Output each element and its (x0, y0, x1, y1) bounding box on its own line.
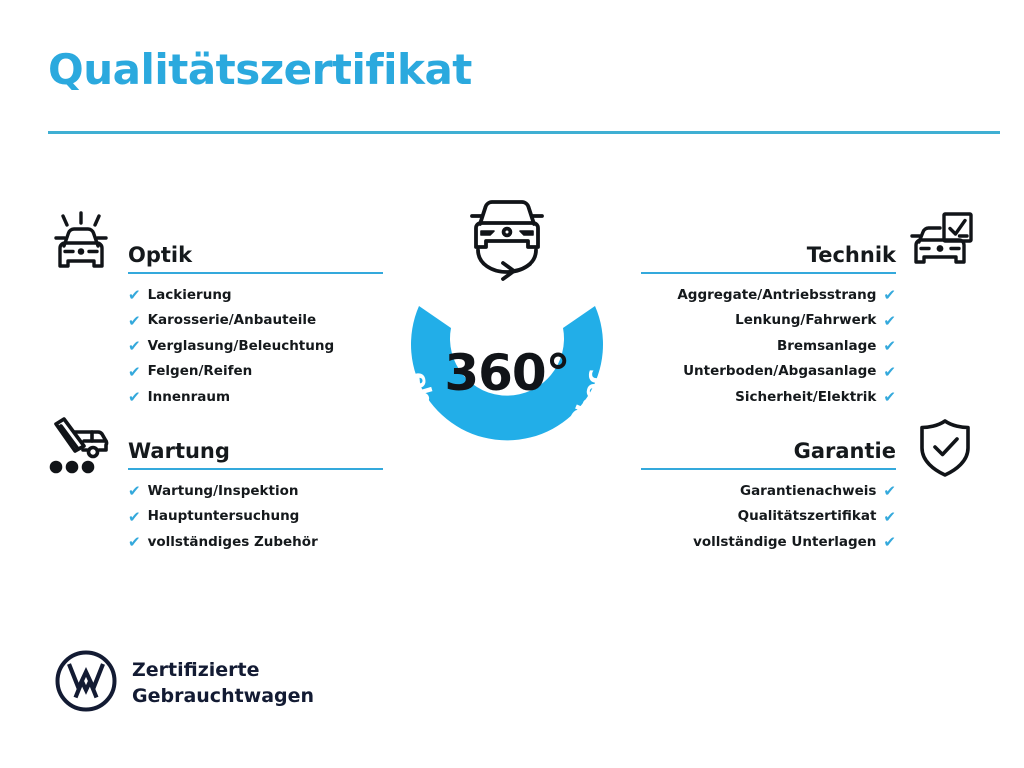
list-item: ✔Wartung/Inspektion (128, 484, 383, 499)
title-divider (48, 131, 1000, 134)
list-item: Qualitätszertifikat✔ (641, 510, 896, 525)
list-item: Aggregate/Antriebsstrang✔ (641, 288, 896, 303)
check-icon: ✔ (883, 510, 896, 525)
list-item-label: Lackierung (148, 289, 232, 303)
list-item-label: Hauptuntersuchung (148, 510, 300, 524)
check-icon: ✔ (883, 314, 896, 329)
list-item-label: Lenkung/Fahrwerk (735, 314, 876, 328)
badge-360-gebrauchtwagen-check: Gebrauchtwagen-Check 360° (378, 252, 636, 488)
car-rotate-icon (456, 190, 558, 290)
check-icon: ✔ (128, 510, 141, 525)
list-item-label: vollständiges Zubehör (148, 536, 318, 550)
list-item: Garantienachweis✔ (641, 484, 896, 499)
shield-check-icon (910, 414, 980, 484)
vw-logo (55, 650, 117, 712)
section-title: Technik (807, 245, 896, 266)
checklist-wartung: ✔Wartung/Inspektion ✔Hauptuntersuchung ✔… (128, 484, 383, 550)
list-item: ✔Karosserie/Anbauteile (128, 314, 383, 329)
section-header: Technik (641, 232, 896, 274)
check-icon: ✔ (128, 288, 141, 303)
list-item: Bremsanlage✔ (641, 339, 896, 354)
section-underline (128, 272, 383, 274)
section-header: Garantie (641, 428, 896, 470)
check-icon: ✔ (883, 288, 896, 303)
list-item: ✔Verglasung/Beleuchtung (128, 339, 383, 354)
list-item-label: Garantienachweis (740, 485, 876, 499)
section-garantie: Garantie Garantienachweis✔ Qualitätszert… (641, 428, 896, 561)
list-item: Sicherheit/Elektrik✔ (641, 390, 896, 405)
checklist-technik: Aggregate/Antriebsstrang✔ Lenkung/Fahrwe… (641, 288, 896, 405)
list-item-label: Felgen/Reifen (148, 365, 253, 379)
list-item: ✔Innenraum (128, 390, 383, 405)
section-optik: Optik ✔Lackierung ✔Karosserie/Anbauteile… (128, 232, 383, 416)
check-icon: ✔ (883, 339, 896, 354)
check-icon: ✔ (128, 339, 141, 354)
list-item-label: Sicherheit/Elektrik (735, 391, 876, 405)
list-item-label: Bremsanlage (777, 340, 876, 354)
footer-line-2: Gebrauchtwagen (132, 684, 314, 710)
list-item-label: Verglasung/Beleuchtung (148, 340, 335, 354)
check-icon: ✔ (883, 484, 896, 499)
car-checkbox-icon (906, 208, 976, 278)
footer-line-1: Zertifizierte (132, 658, 314, 684)
section-underline (641, 468, 896, 470)
list-item-label: Aggregate/Antriebsstrang (677, 289, 876, 303)
list-item-label: Karosserie/Anbauteile (148, 314, 317, 328)
list-item: Unterboden/Abgasanlage✔ (641, 365, 896, 380)
list-item: Lenkung/Fahrwerk✔ (641, 314, 896, 329)
car-shine-icon (46, 208, 116, 278)
section-title: Wartung (128, 441, 230, 462)
checklist-optik: ✔Lackierung ✔Karosserie/Anbauteile ✔Verg… (128, 288, 383, 405)
list-item-label: Innenraum (148, 391, 230, 405)
check-icon: ✔ (128, 484, 141, 499)
check-icon: ✔ (128, 314, 141, 329)
list-item: ✔Lackierung (128, 288, 383, 303)
list-item-label: Wartung/Inspektion (148, 485, 299, 499)
car-pen-icon (42, 414, 112, 484)
footer-brand-text: Zertifizierte Gebrauchtwagen (132, 658, 314, 709)
badge-center-label: 360° (378, 348, 636, 398)
section-title: Garantie (794, 441, 896, 462)
section-wartung: Wartung ✔Wartung/Inspektion ✔Hauptunters… (128, 428, 383, 561)
check-icon: ✔ (128, 390, 141, 405)
list-item: ✔Hauptuntersuchung (128, 510, 383, 525)
check-icon: ✔ (883, 535, 896, 550)
list-item: ✔Felgen/Reifen (128, 365, 383, 380)
section-header: Wartung (128, 428, 383, 470)
section-underline (641, 272, 896, 274)
section-technik: Technik Aggregate/Antriebsstrang✔ Lenkun… (641, 232, 896, 416)
list-item-label: Qualitätszertifikat (738, 510, 877, 524)
checklist-garantie: Garantienachweis✔ Qualitätszertifikat✔ v… (641, 484, 896, 550)
section-underline (128, 468, 383, 470)
list-item-label: vollständige Unterlagen (693, 536, 876, 550)
list-item: vollständige Unterlagen✔ (641, 535, 896, 550)
check-icon: ✔ (883, 365, 896, 380)
list-item: ✔vollständiges Zubehör (128, 535, 383, 550)
check-icon: ✔ (883, 390, 896, 405)
check-icon: ✔ (128, 365, 141, 380)
page-title: Qualitätszertifikat (48, 48, 472, 92)
section-header: Optik (128, 232, 383, 274)
check-icon: ✔ (128, 535, 141, 550)
list-item-label: Unterboden/Abgasanlage (683, 365, 876, 379)
section-title: Optik (128, 245, 192, 266)
